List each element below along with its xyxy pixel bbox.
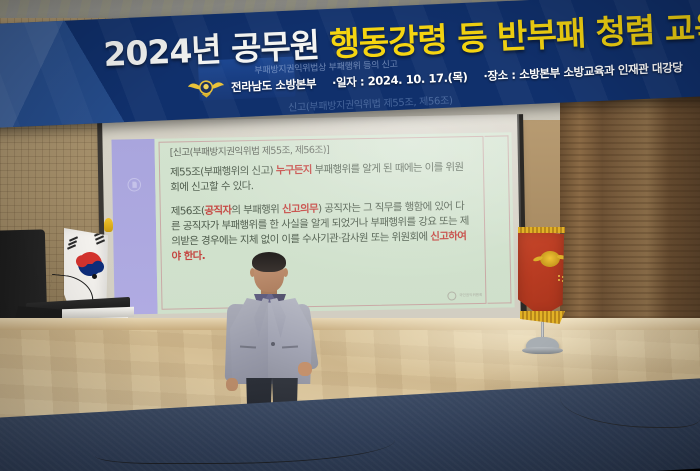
flag-stand-foot — [522, 347, 563, 354]
article-55-highlight: 누구든지 — [276, 164, 312, 177]
fire-service-ceremonial-flag — [510, 225, 574, 361]
presenter-hand-left — [226, 378, 238, 391]
microphone-head-icon — [92, 274, 97, 279]
taeguk-symbol-icon — [74, 248, 106, 280]
banner-organization: 전라남도 소방본부 — [231, 77, 317, 95]
presenter-jacket-button — [271, 342, 275, 346]
article-56-lead: 제56조( — [171, 205, 205, 218]
stage-light-glow — [300, 318, 700, 388]
flag-fringe-top — [518, 227, 565, 233]
ceremonial-flag-dots — [558, 275, 568, 285]
ceremonial-flag-emblem-icon — [539, 250, 560, 267]
slide-content: [신고(부패방지권익위법 제55조, 제56조)] 제55조(부패행위의 신고)… — [154, 132, 514, 314]
watermark-label: 국민권익위원회 — [459, 293, 482, 298]
slide-sidebar — [111, 139, 157, 315]
banner-title-yellow: 행동강령 등 반부패 청렴 교육 — [329, 7, 700, 64]
lecture-hall-photo: [신고(부패방지권익위법 제55조, 제56조)] 제55조(부패행위의 신고)… — [0, 0, 700, 471]
article-56-highlight-1: 공직자 — [204, 205, 231, 217]
slide-right-column — [484, 135, 511, 303]
banner-venue: ·장소 : 소방본부 소방교육과 인재관 대강당 — [483, 60, 683, 83]
flag-finial — [104, 218, 113, 232]
article-56-mid-1: 의 부패행위 — [231, 204, 282, 217]
presenter-hair — [252, 252, 286, 272]
ceremonial-flag-cloth — [518, 229, 564, 317]
article-55-lead: 제55조(부패행위의 신고) — [170, 165, 276, 179]
slide-article-55: 제55조(부패행위의 신고) 누구든지 부패행위를 알게 된 때에는 이를 위원… — [170, 160, 471, 196]
presenter-hand-right — [298, 362, 312, 376]
document-icon — [126, 177, 141, 196]
banner-date: ·일자 : 2024. 10. 17.(목) — [332, 70, 468, 90]
fire-service-eagle-emblem-icon — [187, 76, 226, 100]
watermark-mark-icon — [447, 291, 456, 300]
slide-watermark-logo: 국민권익위원회 — [447, 291, 482, 301]
article-56-highlight-2: 신고의무 — [282, 203, 318, 216]
